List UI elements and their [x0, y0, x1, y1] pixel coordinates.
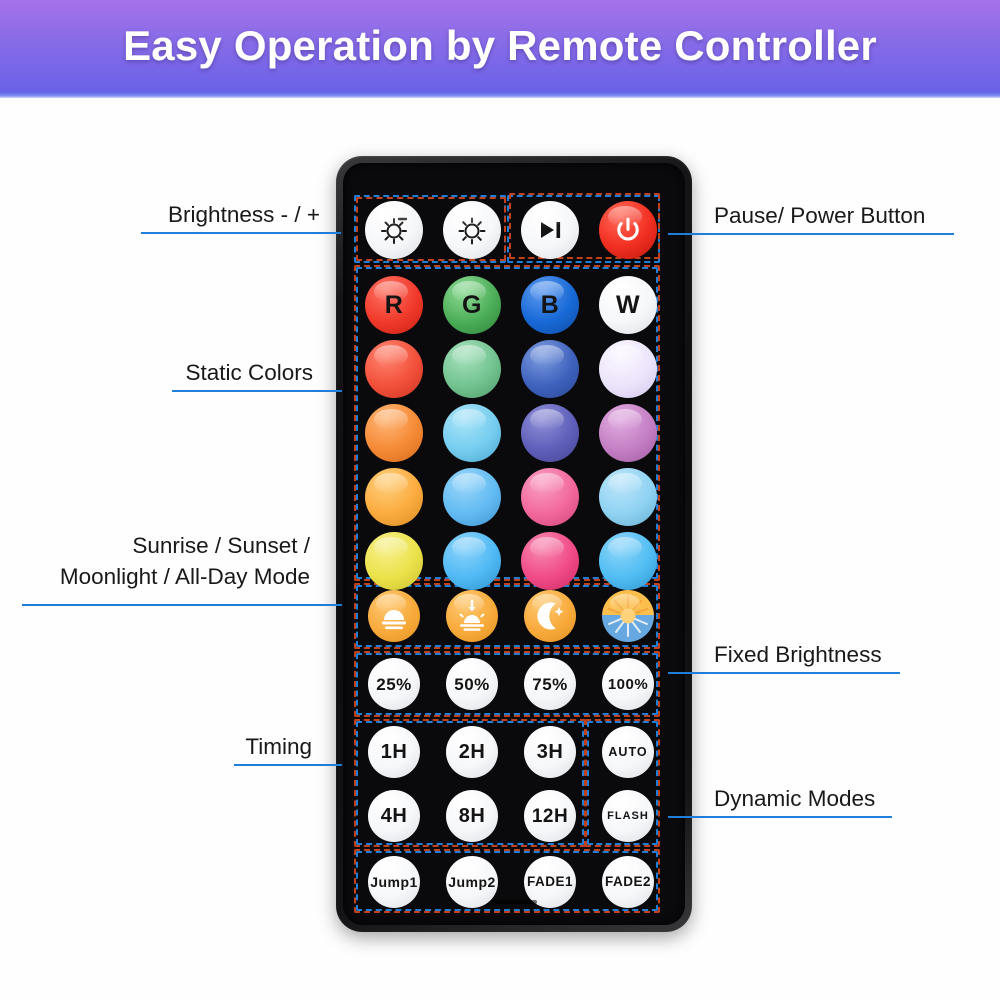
fixed-brightness-label: 100% — [608, 677, 648, 692]
color-swatch[interactable] — [521, 404, 579, 462]
mode-moonlight-button[interactable] — [524, 590, 576, 642]
callout-modes-line — [22, 604, 342, 606]
timer-label: 3H — [537, 742, 564, 762]
callout-pause-power-label: Pause/ Power Button — [714, 201, 1000, 231]
color-button-label: W — [616, 293, 640, 318]
effect-label: Jump2 — [448, 875, 496, 889]
callout-fixed-brightness-line — [668, 672, 900, 674]
color-button-label: B — [541, 293, 560, 318]
fixed-brightness-label: 75% — [532, 676, 568, 693]
timer-label: 12H — [532, 807, 568, 826]
brightness-up-button[interactable] — [443, 201, 501, 259]
fixed-brightness-label: 50% — [454, 676, 490, 693]
color-swatch[interactable] — [443, 404, 501, 462]
color-swatch[interactable] — [365, 468, 423, 526]
fixed-brightness-label: 25% — [376, 676, 412, 693]
effect-label: FADE2 — [605, 875, 651, 889]
dynamic-mode-label: FLASH — [607, 811, 649, 822]
row-top-controls — [357, 201, 657, 259]
brightness-down-button[interactable] — [365, 201, 423, 259]
row-colors-2 — [357, 340, 657, 398]
timer-label: 1H — [381, 742, 408, 762]
ir-emitter — [491, 900, 537, 904]
color-button-label: G — [462, 293, 482, 318]
timer-button-3h[interactable]: 3H — [524, 726, 576, 778]
color-swatch[interactable] — [443, 340, 501, 398]
callout-brightness-label: Brightness - / + — [0, 200, 320, 230]
timer-button-12h[interactable]: 12H — [524, 790, 576, 842]
timer-button-2h[interactable]: 2H — [446, 726, 498, 778]
mode-sunrise-button[interactable] — [368, 590, 420, 642]
color-swatch[interactable] — [365, 340, 423, 398]
moon-icon — [532, 598, 568, 634]
callout-timing-label: Timing — [0, 732, 312, 762]
fixed-brightness-button-50[interactable]: 50% — [446, 658, 498, 710]
play-pause-icon — [535, 215, 565, 245]
callout-brightness-line — [141, 232, 341, 234]
color-swatch[interactable] — [599, 532, 657, 590]
play-pause-button[interactable] — [521, 201, 579, 259]
fixed-brightness-button-100[interactable]: 100% — [602, 658, 654, 710]
effect-button-fade2[interactable]: FADE2 — [602, 856, 654, 908]
color-button-green[interactable]: G — [443, 276, 501, 334]
timer-button-8h[interactable]: 8H — [446, 790, 498, 842]
timer-label: 8H — [459, 806, 486, 826]
color-swatch[interactable] — [521, 468, 579, 526]
remote-faceplate: R G B W — [343, 163, 685, 925]
sun-bright-icon — [455, 213, 489, 247]
color-swatch[interactable] — [443, 532, 501, 590]
row-fixed-brightness: 25% 50% 75% 100% — [357, 658, 657, 710]
fixed-brightness-button-25[interactable]: 25% — [368, 658, 420, 710]
dynamic-mode-button-flash[interactable]: FLASH — [602, 790, 654, 842]
color-swatch[interactable] — [599, 404, 657, 462]
callout-modes-label-line1: Sunrise / Sunset / — [0, 531, 310, 561]
callout-timing-line — [234, 764, 342, 766]
product-infographic: Easy Operation by Remote Controller — [0, 0, 1000, 1000]
color-swatch[interactable] — [443, 468, 501, 526]
mode-all-day-button[interactable] — [602, 590, 654, 642]
color-swatch[interactable] — [365, 532, 423, 590]
all-day-icon — [602, 590, 654, 642]
timer-button-4h[interactable]: 4H — [368, 790, 420, 842]
sunset-icon — [454, 598, 490, 634]
callout-dynamic-modes-line — [668, 816, 892, 818]
dynamic-mode-label: AUTO — [608, 746, 647, 759]
effect-label: FADE1 — [527, 875, 573, 889]
row-timer-1: 1H 2H 3H AUTO — [357, 726, 657, 778]
sun-dim-icon — [377, 213, 411, 247]
color-swatch[interactable] — [521, 340, 579, 398]
remote-controller: R G B W — [336, 156, 692, 932]
effect-button-jump1[interactable]: Jump1 — [368, 856, 420, 908]
fixed-brightness-button-75[interactable]: 75% — [524, 658, 576, 710]
timer-button-1h[interactable]: 1H — [368, 726, 420, 778]
callout-modes-label-line2: Moonlight / All-Day Mode — [0, 562, 310, 592]
timer-label: 2H — [459, 742, 486, 762]
color-button-label: R — [385, 293, 404, 318]
header-underline — [0, 92, 1000, 98]
callout-dynamic-modes-label: Dynamic Modes — [714, 784, 1000, 814]
row-colors-4 — [357, 468, 657, 526]
effect-label: Jump1 — [370, 875, 418, 889]
timer-label: 4H — [381, 806, 408, 826]
row-colors-5 — [357, 532, 657, 590]
color-swatch[interactable] — [599, 340, 657, 398]
color-button-red[interactable]: R — [365, 276, 423, 334]
power-icon — [613, 215, 643, 245]
power-button[interactable] — [599, 201, 657, 259]
color-button-blue[interactable]: B — [521, 276, 579, 334]
color-button-white[interactable]: W — [599, 276, 657, 334]
color-swatch[interactable] — [599, 468, 657, 526]
callout-pause-power-line — [668, 233, 954, 235]
header-banner: Easy Operation by Remote Controller — [0, 0, 1000, 92]
mode-sunset-button[interactable] — [446, 590, 498, 642]
row-colors-3 — [357, 404, 657, 462]
color-swatch[interactable] — [365, 404, 423, 462]
callout-static-colors-label: Static Colors — [0, 358, 313, 388]
callout-static-colors-line — [172, 390, 342, 392]
row-rgbw: R G B W — [357, 276, 657, 334]
sunrise-icon — [376, 598, 412, 634]
dynamic-mode-button-auto[interactable]: AUTO — [602, 726, 654, 778]
color-swatch[interactable] — [521, 532, 579, 590]
row-timer-2: 4H 8H 12H FLASH — [357, 790, 657, 842]
page-title: Easy Operation by Remote Controller — [123, 22, 877, 70]
callout-fixed-brightness-label: Fixed Brightness — [714, 640, 1000, 670]
row-scene-modes — [357, 590, 657, 642]
remote-button-area: R G B W — [357, 179, 657, 879]
